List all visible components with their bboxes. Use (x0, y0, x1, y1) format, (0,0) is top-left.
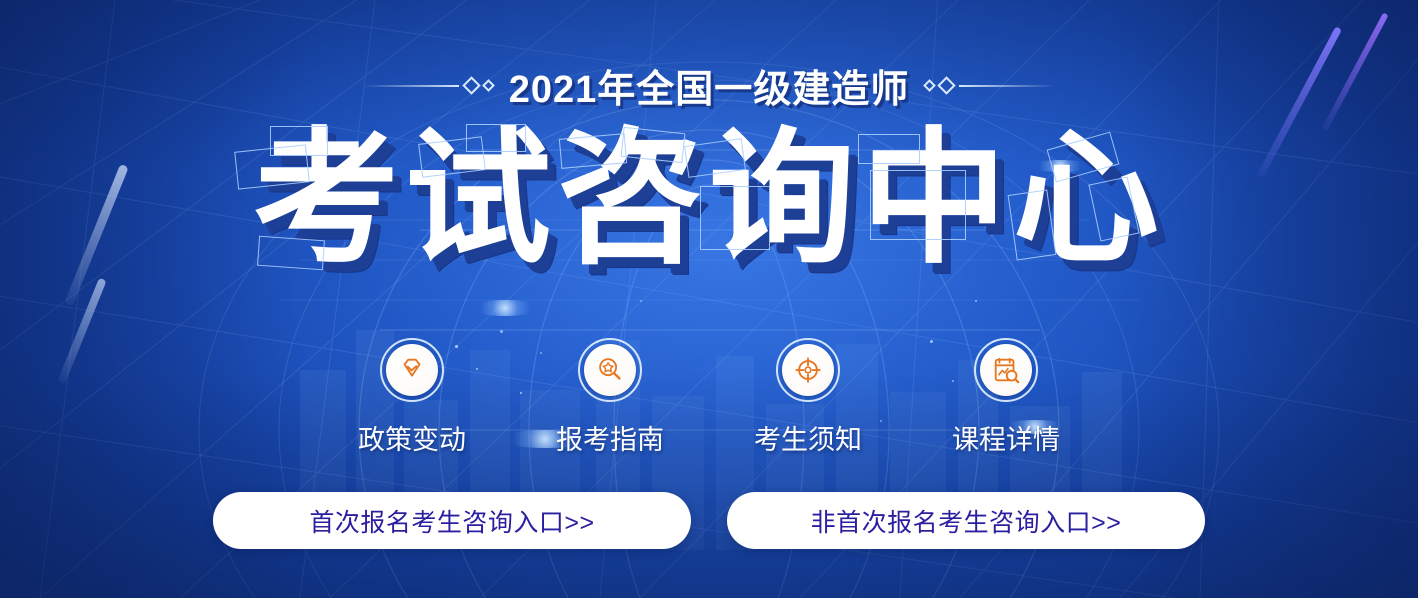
diamond-ornament-icon (363, 79, 493, 92)
subtitle-row: 2021年全国一级建造师 (0, 58, 1418, 113)
cta-row: 首次报名考生咨询入口>> 非首次报名考生咨询入口>> (0, 492, 1418, 549)
cta-label: 非首次报名考生咨询入口>> (811, 503, 1122, 539)
icon-ring (380, 338, 444, 402)
icon-ring (974, 338, 1038, 402)
feature-policy-changes[interactable]: 政策变动 (378, 338, 446, 457)
feature-label: 政策变动 (358, 418, 466, 457)
diamond-ornament-icon (925, 79, 1055, 92)
feature-course-details[interactable]: 课程详情 (972, 338, 1040, 457)
first-time-applicant-entry-button[interactable]: 首次报名考生咨询入口>> (213, 492, 691, 549)
returning-applicant-entry-button[interactable]: 非首次报名考生咨询入口>> (727, 492, 1205, 549)
document-chart-magnifier-icon (980, 344, 1032, 396)
magnifier-star-icon (584, 344, 636, 396)
feature-application-guide[interactable]: 报考指南 (576, 338, 644, 457)
feature-label: 课程详情 (952, 418, 1060, 457)
banner-subtitle: 2021年全国一级建造师 (509, 58, 910, 113)
feature-candidate-notice[interactable]: 考生须知 (774, 338, 842, 457)
particle-dot-icon (640, 300, 642, 302)
page-title: 考试咨询中心 (253, 126, 1165, 272)
cta-label: 首次报名考生咨询入口>> (309, 503, 594, 539)
feature-label: 考生须知 (754, 418, 862, 457)
crosshair-target-icon (782, 344, 834, 396)
gem-check-icon (386, 344, 438, 396)
exam-consultation-banner: 2021年全国一级建造师 考试咨询中心 (0, 0, 1418, 598)
page-title-wrap: 考试咨询中心 (0, 126, 1418, 272)
glow-particle-icon (470, 300, 540, 316)
icon-ring (578, 338, 642, 402)
feature-icon-row: 政策变动 报考指南 (0, 338, 1418, 457)
particle-dot-icon (500, 330, 503, 333)
icon-ring (776, 338, 840, 402)
particle-dot-icon (975, 300, 977, 302)
feature-label: 报考指南 (556, 418, 664, 457)
